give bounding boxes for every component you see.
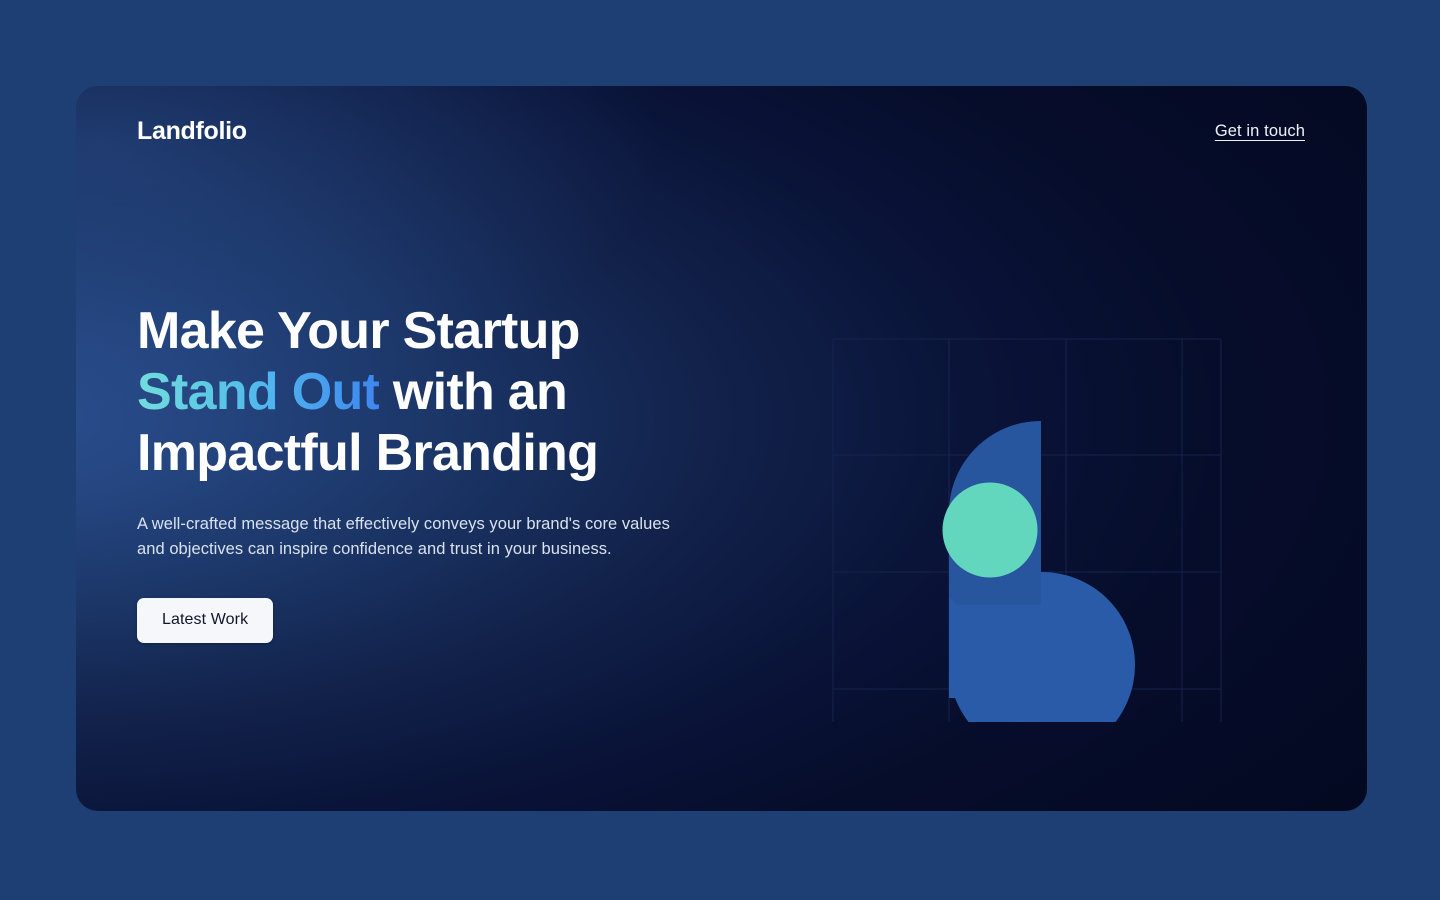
- hero-copy: Make Your Startup Stand Out with an Impa…: [137, 301, 737, 643]
- brand-logo[interactable]: Landfolio: [137, 117, 247, 146]
- heading-accent: Stand Out: [137, 363, 379, 421]
- hero-graphic: [757, 253, 1223, 722]
- screen-root: Landfolio Get in touch Make Your Startup…: [0, 0, 1440, 900]
- abstract-logo-mark-icon: [757, 253, 1223, 722]
- hero-body: Make Your Startup Stand Out with an Impa…: [76, 86, 1367, 811]
- heading-line-1: Make Your Startup: [137, 302, 580, 360]
- hero-card: Landfolio Get in touch Make Your Startup…: [76, 86, 1367, 811]
- hero-description: A well-crafted message that effectively …: [137, 512, 689, 562]
- heading-line-3: Impactful Branding: [137, 424, 598, 482]
- heading-line-2-rest: with an: [379, 363, 567, 421]
- latest-work-button[interactable]: Latest Work: [137, 598, 273, 643]
- mint-circle: [943, 483, 1038, 578]
- page-title: Make Your Startup Stand Out with an Impa…: [137, 301, 737, 484]
- get-in-touch-link[interactable]: Get in touch: [1215, 122, 1305, 141]
- site-nav: Landfolio Get in touch: [76, 86, 1367, 176]
